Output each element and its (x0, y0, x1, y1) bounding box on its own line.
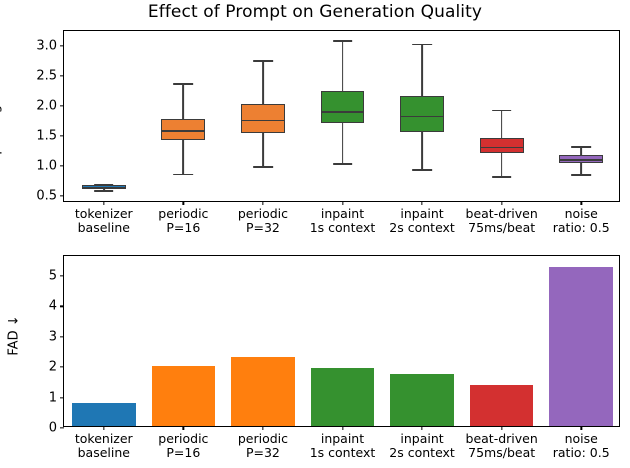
whisker-cap-lower (571, 174, 591, 176)
x-tick-label: beat-driven75ms/beat (466, 432, 538, 460)
whisker-cap-upper (571, 146, 591, 148)
bar-2 (152, 366, 216, 426)
y-tick-mark (60, 336, 64, 337)
boxplot-ylabel: Mel Spectrogram Loss ↓ (0, 11, 3, 211)
x-tick-label: periodicP=32 (238, 207, 288, 235)
boxplot-plot-area (64, 31, 619, 201)
barchart-plot-area (64, 256, 619, 426)
figure-title: Effect of Prompt on Generation Quality (0, 2, 630, 22)
boxplot-axes: Mel Spectrogram Loss ↓ 0.51.01.52.02.53.… (63, 30, 620, 202)
x-tick-mark (501, 201, 502, 205)
bar-6 (470, 385, 534, 426)
x-tick-label: beat-driven75ms/beat (466, 207, 538, 235)
y-tick-mark (60, 135, 64, 136)
y-tick-label: 3.0 (36, 38, 57, 53)
x-tick-mark (262, 201, 263, 205)
x-tick-mark (581, 201, 582, 205)
x-tick-mark (581, 426, 582, 430)
x-tick-label: periodicP=16 (158, 432, 208, 460)
x-tick-mark (501, 426, 502, 430)
figure-canvas: Effect of Prompt on Generation Quality M… (0, 0, 630, 468)
x-tick-mark (103, 426, 104, 430)
y-tick-label: 0.5 (36, 188, 57, 203)
y-tick-mark (60, 397, 64, 398)
y-tick-mark (60, 306, 64, 307)
x-tick-mark (421, 201, 422, 205)
whisker-lower (580, 163, 582, 174)
y-tick-mark (60, 366, 64, 367)
bar-3 (231, 357, 295, 426)
y-tick-label: 5 (49, 268, 57, 283)
boxplot-item (64, 31, 619, 201)
x-tick-label: tokenizerbaseline (75, 432, 133, 460)
x-tick-mark (342, 201, 343, 205)
y-tick-label: 1.5 (36, 128, 57, 143)
x-tick-mark (183, 201, 184, 205)
barchart-ylabel: FAD ↓ (7, 266, 22, 406)
x-tick-label: inpaint2s context (389, 207, 455, 235)
y-tick-label: 0 (49, 421, 57, 436)
y-tick-mark (60, 45, 64, 46)
y-tick-label: 2.0 (36, 98, 57, 113)
y-tick-mark (60, 195, 64, 196)
x-tick-mark (421, 426, 422, 430)
x-tick-label: inpaint1s context (310, 207, 376, 235)
y-tick-mark (60, 75, 64, 76)
y-tick-label: 2 (49, 360, 57, 375)
x-tick-label: inpaint1s context (310, 432, 376, 460)
x-tick-label: periodicP=32 (238, 432, 288, 460)
x-tick-label: inpaint2s context (389, 432, 455, 460)
y-tick-label: 1.0 (36, 158, 57, 173)
y-tick-mark (60, 165, 64, 166)
x-tick-label: noiseratio: 0.5 (553, 207, 610, 235)
y-tick-label: 1 (49, 390, 57, 405)
y-tick-mark (60, 427, 64, 428)
x-tick-mark (342, 426, 343, 430)
bar-1 (72, 403, 136, 426)
y-tick-label: 3 (49, 329, 57, 344)
x-tick-mark (103, 201, 104, 205)
bar-7 (549, 267, 613, 426)
bar-4 (311, 368, 375, 426)
x-tick-mark (183, 426, 184, 430)
x-tick-label: periodicP=16 (158, 207, 208, 235)
median-line (559, 159, 603, 161)
barchart-axes: FAD ↓ 012345tokenizerbaselineperiodicP=1… (63, 255, 620, 427)
y-tick-label: 4 (49, 299, 57, 314)
x-tick-label: noiseratio: 0.5 (553, 432, 610, 460)
y-tick-mark (60, 105, 64, 106)
x-tick-label: tokenizerbaseline (75, 207, 133, 235)
y-tick-mark (60, 275, 64, 276)
x-tick-mark (262, 426, 263, 430)
bar-5 (390, 374, 454, 426)
y-tick-label: 2.5 (36, 68, 57, 83)
